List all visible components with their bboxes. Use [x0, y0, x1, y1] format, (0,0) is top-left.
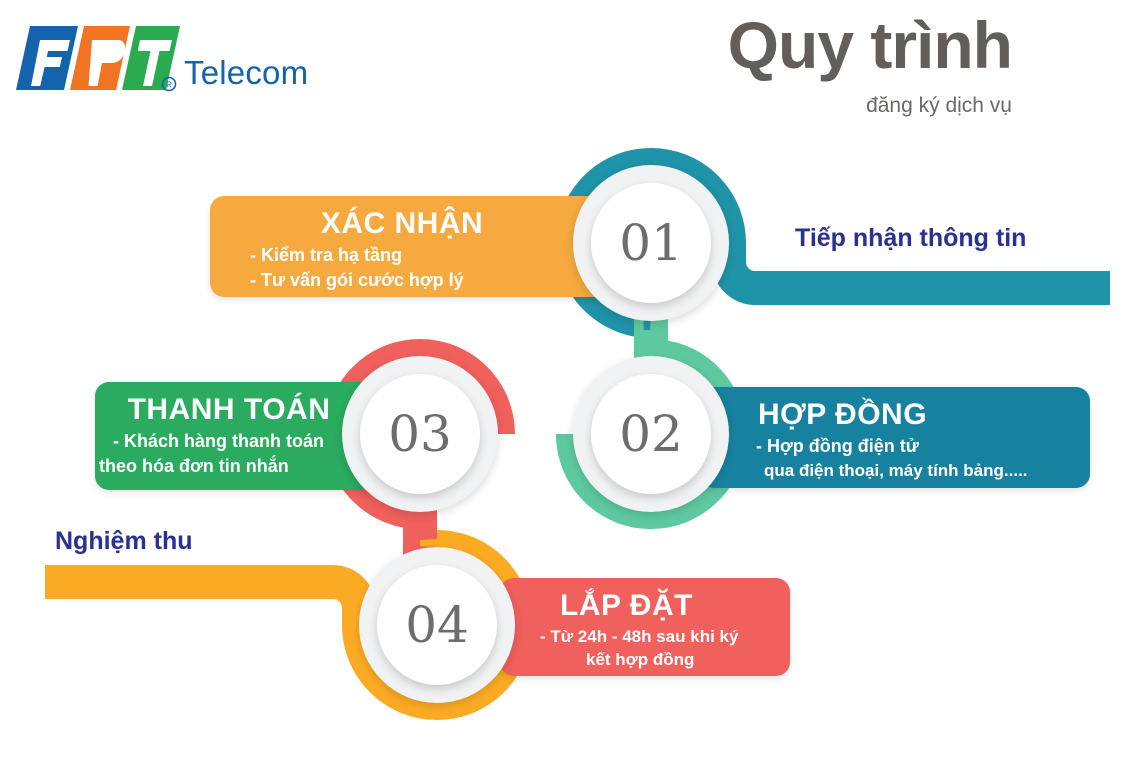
card-step-02[interactable]: HỢP ĐỒNG - Hợp đồng điện tử qua điện tho…: [700, 387, 1090, 488]
step-marker-04[interactable]: 04: [359, 547, 515, 703]
card-02-line-2: qua điện thoại, máy tính bảng.....: [764, 460, 1090, 482]
step-number-03: 03: [388, 405, 452, 463]
card-04-title: LẮP ĐẶT: [560, 590, 790, 622]
step-marker-02[interactable]: 02: [573, 356, 729, 512]
card-04-line-2: kết hợp đồng: [586, 649, 790, 671]
infographic-canvas: R Telecom Quy trình đăng ký dịch vụ: [0, 0, 1140, 768]
card-02-line-1: - Hợp đồng điện tử: [756, 435, 1090, 458]
caption-step-01: Tiếp nhận thông tin: [795, 224, 1026, 253]
caption-step-04: Nghiệm thu: [55, 527, 193, 556]
step-number-01: 01: [619, 214, 683, 272]
card-04-line-1: - Từ 24h - 48h sau khi ký: [540, 626, 790, 648]
card-03-title: THANH TOÁN: [95, 394, 363, 426]
card-02-title: HỢP ĐỒNG: [758, 399, 1090, 431]
step-marker-01[interactable]: 01: [573, 165, 729, 321]
step-number-04: 04: [405, 596, 469, 654]
card-step-04[interactable]: LẮP ĐẶT - Từ 24h - 48h sau khi ký kết hợ…: [500, 578, 790, 676]
connector-04-to-left: [45, 582, 359, 625]
step-marker-03[interactable]: 03: [342, 356, 498, 512]
step-number-02: 02: [619, 405, 683, 463]
card-01-title: XÁC NHẬN: [210, 208, 594, 240]
